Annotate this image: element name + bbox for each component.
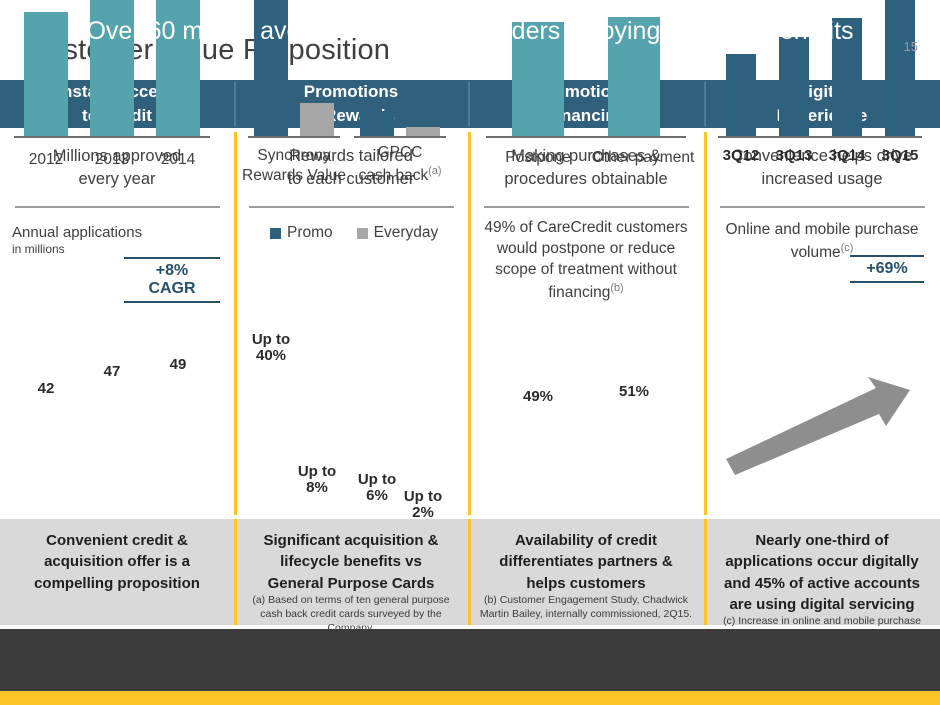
bar-value-2014: 49	[156, 357, 200, 373]
category-label-3q14: 3Q14	[817, 146, 877, 166]
bar-value-line1: Up to	[344, 472, 410, 488]
column-header-line1: Promotions	[304, 80, 398, 104]
footnote-marker-c: (c)	[841, 242, 854, 254]
chart-baseline-axis	[718, 136, 922, 138]
category-label-3q13: 3Q13	[764, 146, 824, 166]
category-label-line2: Rewards Value	[242, 166, 346, 186]
category-label-postpone: Postpone	[492, 148, 584, 168]
section-divider-rule	[15, 206, 220, 208]
column-digital-experience: Convenience helps drive increased usage …	[704, 128, 940, 519]
key-message-text: Over 60 million average active cardholde…	[0, 0, 940, 62]
section-divider-rule	[484, 206, 689, 208]
column-subhead-line2: increased usage	[704, 168, 940, 191]
chart-caption-units: in millions	[12, 242, 142, 256]
growth-arrow-icon	[724, 376, 924, 476]
key-message-banner	[0, 629, 940, 691]
footnote-marker: (b)	[484, 594, 497, 606]
legend-label-everyday: Everyday	[374, 224, 439, 242]
summary-cell-promotions-rewards: Significant acquisition & lifecycle bene…	[234, 519, 468, 625]
category-label-2013: 2013	[82, 150, 142, 170]
legend-item-everyday: Everyday	[357, 224, 439, 242]
category-label-other-payment: Other payment	[586, 148, 700, 168]
category-label-line1: GPCC	[348, 143, 452, 163]
bar-gpcc-everyday	[406, 127, 440, 136]
category-label-3q15: 3Q15	[870, 146, 930, 166]
column-subhead-line2: every year	[0, 168, 234, 191]
category-label-2012: 2012	[16, 150, 76, 170]
category-label-synchrony: Synchrony Rewards Value	[242, 146, 346, 186]
summary-title: Nearly one-third of applications occur d…	[711, 530, 933, 615]
bar-value-synchrony-everyday: Up to 8%	[284, 464, 350, 496]
carecredit-statistic-body: 49% of CareCredit customers would postpo…	[484, 219, 687, 301]
footnote-marker-a: (a)	[428, 165, 441, 177]
category-label-line2: cash back(a)	[348, 164, 452, 186]
bar-gpcc-promo	[360, 111, 394, 136]
bar-value-2013: 47	[90, 364, 134, 380]
chart-baseline-axis	[14, 136, 210, 138]
legend-item-promo: Promo	[270, 224, 333, 242]
carecredit-statistic-text: 49% of CareCredit customers would postpo…	[482, 218, 690, 304]
category-label-gpcc: GPCC cash back(a)	[348, 143, 452, 185]
chart-caption-text: Annual applications	[12, 224, 142, 241]
content-columns: Millions approved every year Annual appl…	[0, 128, 940, 519]
bar-value-line2: 40%	[238, 348, 304, 364]
column-instant-access: Millions approved every year Annual appl…	[0, 128, 234, 519]
chart-baseline-axis	[486, 136, 686, 138]
summary-cell-promotional-financing: Availability of credit differentiates pa…	[468, 519, 704, 625]
bar-value-synchrony-promo: Up to 40%	[238, 332, 304, 364]
footnote-marker: (c)	[723, 615, 735, 627]
bar-value-2012: 42	[24, 381, 68, 397]
legend-label-promo: Promo	[287, 224, 333, 242]
bar-3q12	[726, 54, 756, 136]
summary-cell-digital-experience: Nearly one-third of applications occur d…	[704, 519, 940, 625]
bar-value-line1: Up to	[390, 489, 456, 505]
section-divider-rule	[249, 206, 454, 208]
cagr-callout: +8% CAGR	[124, 257, 220, 303]
chart-baseline-axis-group1	[248, 136, 340, 138]
bar-value-other-payment: 51%	[608, 384, 660, 400]
bar-value-gpcc-everyday: Up to 2%	[390, 489, 456, 521]
legend-swatch-icon	[270, 228, 281, 239]
column-header-promotional-financing[interactable]: Promotional Financing	[468, 80, 704, 128]
summary-title: Convenient credit & acquisition offer is…	[22, 530, 212, 594]
category-label-2014: 2014	[148, 150, 208, 170]
footnote-marker: (a)	[252, 594, 265, 606]
summary-band: Convenient credit & acquisition offer is…	[0, 519, 940, 625]
summary-cell-instant-access: Convenient credit & acquisition offer is…	[0, 519, 234, 625]
section-divider-rule	[720, 206, 925, 208]
column-promotional-financing: Making purchases & procedures obtainable…	[468, 128, 704, 519]
footnote-text: Based on terms of ten general purpose ca…	[260, 594, 449, 634]
category-label-3q12: 3Q12	[711, 146, 771, 166]
chart-caption: Annual applications in millions	[12, 224, 142, 256]
chart-baseline-axis-group2	[354, 136, 446, 138]
column-subhead-line2: procedures obtainable	[468, 168, 704, 191]
bar-value-line1: Up to	[238, 332, 304, 348]
page-number: 15	[904, 39, 918, 54]
chart-legend: Promo Everyday	[270, 224, 438, 242]
footnote-marker-b: (b)	[610, 282, 623, 294]
bar-value-postpone: 49%	[512, 389, 564, 405]
bar-value-line2: 8%	[284, 480, 350, 496]
growth-callout: +69%	[850, 255, 924, 283]
column-promotions-rewards: Rewards tailored to each customer Promo …	[234, 128, 468, 519]
bar-synchrony-everyday	[300, 103, 334, 136]
category-label-line1: Synchrony	[242, 146, 346, 166]
summary-title: Availability of credit differentiates pa…	[486, 530, 686, 594]
footnote-text: Customer Engagement Study, Chadwick Mart…	[480, 594, 692, 620]
bottom-accent-strip	[0, 691, 940, 705]
bar-value-line1: Up to	[284, 464, 350, 480]
footnote-b: (b) Customer Engagement Study, Chadwick …	[475, 594, 697, 627]
summary-title: Significant acquisition & lifecycle bene…	[251, 530, 451, 594]
legend-swatch-icon	[357, 228, 368, 239]
